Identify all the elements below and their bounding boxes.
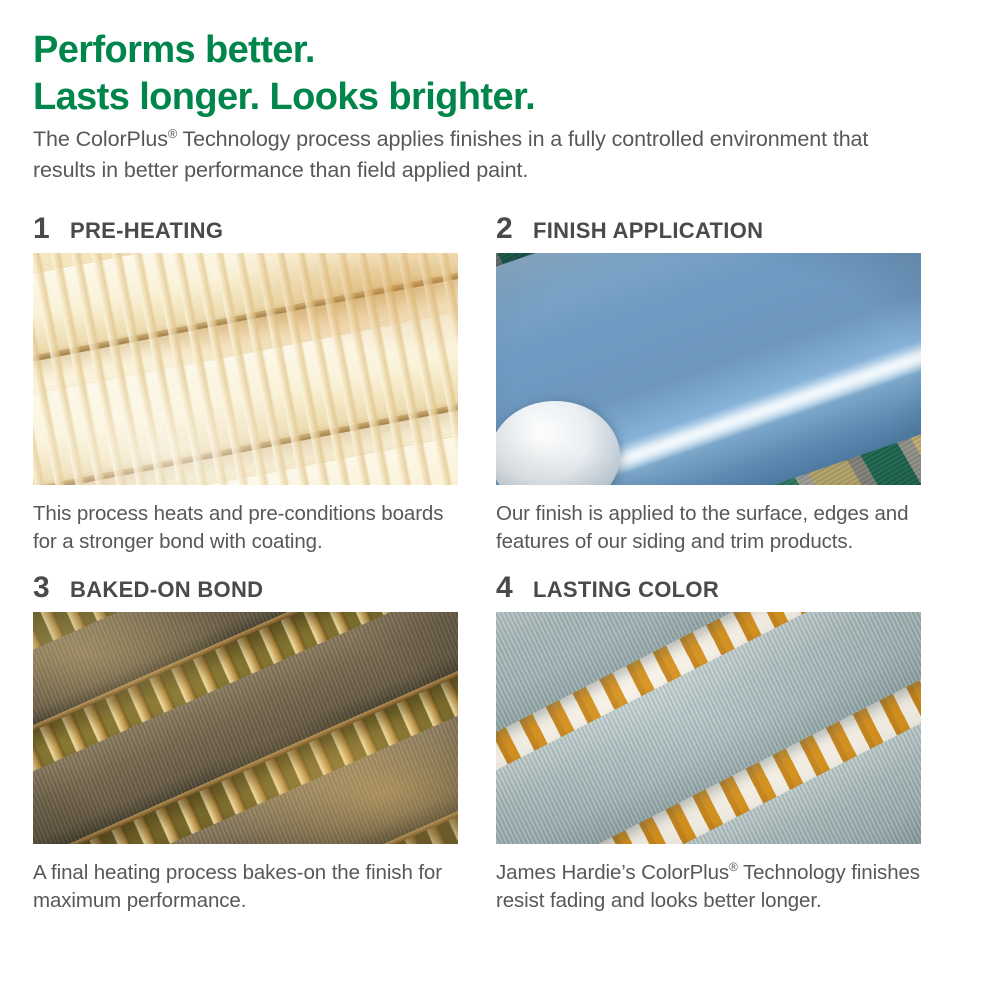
step-3-caption: A final heating process bakes-on the fin… [33, 859, 463, 915]
step-4-caption: James Hardie’s ColorPlus® Technology fin… [496, 859, 926, 915]
step-3-photo-baked-on-bond [33, 612, 458, 844]
process-step-1: 1 PRE-HEATING This process heats and pre… [33, 214, 458, 556]
step-2-header: 2 FINISH APPLICATION [496, 214, 921, 250]
step-3-label: BAKED-ON BOND [70, 579, 263, 601]
headline-line-1: Performs better. [33, 27, 933, 74]
step-1-number: 1 [33, 214, 63, 244]
registered-trademark-icon: ® [168, 127, 177, 141]
page-headline: Performs better. Lasts longer. Looks bri… [33, 27, 933, 120]
lasting-color-tone [496, 612, 921, 844]
registered-trademark-icon: ® [729, 860, 738, 874]
headline-line-2: Lasts longer. Looks brighter. [33, 74, 933, 121]
step-1-label: PRE-HEATING [70, 220, 223, 242]
step-2-label: FINISH APPLICATION [533, 220, 763, 242]
step-1-photo-pre-heating [33, 253, 458, 485]
finish-application-vignette [496, 253, 921, 485]
colorplus-process-infographic: Performs better. Lasts longer. Looks bri… [0, 0, 1000, 1000]
step-4-number: 4 [496, 573, 526, 603]
step-1-caption: This process heats and pre-conditions bo… [33, 500, 463, 556]
pre-heating-glow [33, 253, 458, 485]
step-3-number: 3 [33, 573, 63, 603]
step-2-caption: Our finish is applied to the surface, ed… [496, 500, 926, 556]
process-steps-row-2: 3 BAKED-ON BOND A final heating process … [33, 573, 963, 915]
step-1-header: 1 PRE-HEATING [33, 214, 458, 250]
process-steps-row-1: 1 PRE-HEATING This process heats and pre… [33, 214, 963, 556]
process-step-2: 2 FINISH APPLICATION Our finish is appli… [496, 214, 921, 556]
step-4-photo-lasting-color [496, 612, 921, 844]
process-step-3: 3 BAKED-ON BOND A final heating process … [33, 573, 458, 915]
step-3-header: 3 BAKED-ON BOND [33, 573, 458, 609]
step-4-label: LASTING COLOR [533, 579, 719, 601]
step-4-caption-part-1: James Hardie’s ColorPlus [496, 861, 729, 884]
page-subheading: The ColorPlus® Technology process applie… [33, 124, 903, 185]
process-step-4: 4 LASTING COLOR James Hardie’s ColorPlus… [496, 573, 921, 915]
step-2-photo-finish-application [496, 253, 921, 485]
step-2-number: 2 [496, 214, 526, 244]
baked-on-bond-heat-glow [33, 612, 458, 844]
step-4-header: 4 LASTING COLOR [496, 573, 921, 609]
subheading-text-part-1: The ColorPlus [33, 127, 168, 151]
process-steps-grid: 1 PRE-HEATING This process heats and pre… [33, 214, 963, 915]
